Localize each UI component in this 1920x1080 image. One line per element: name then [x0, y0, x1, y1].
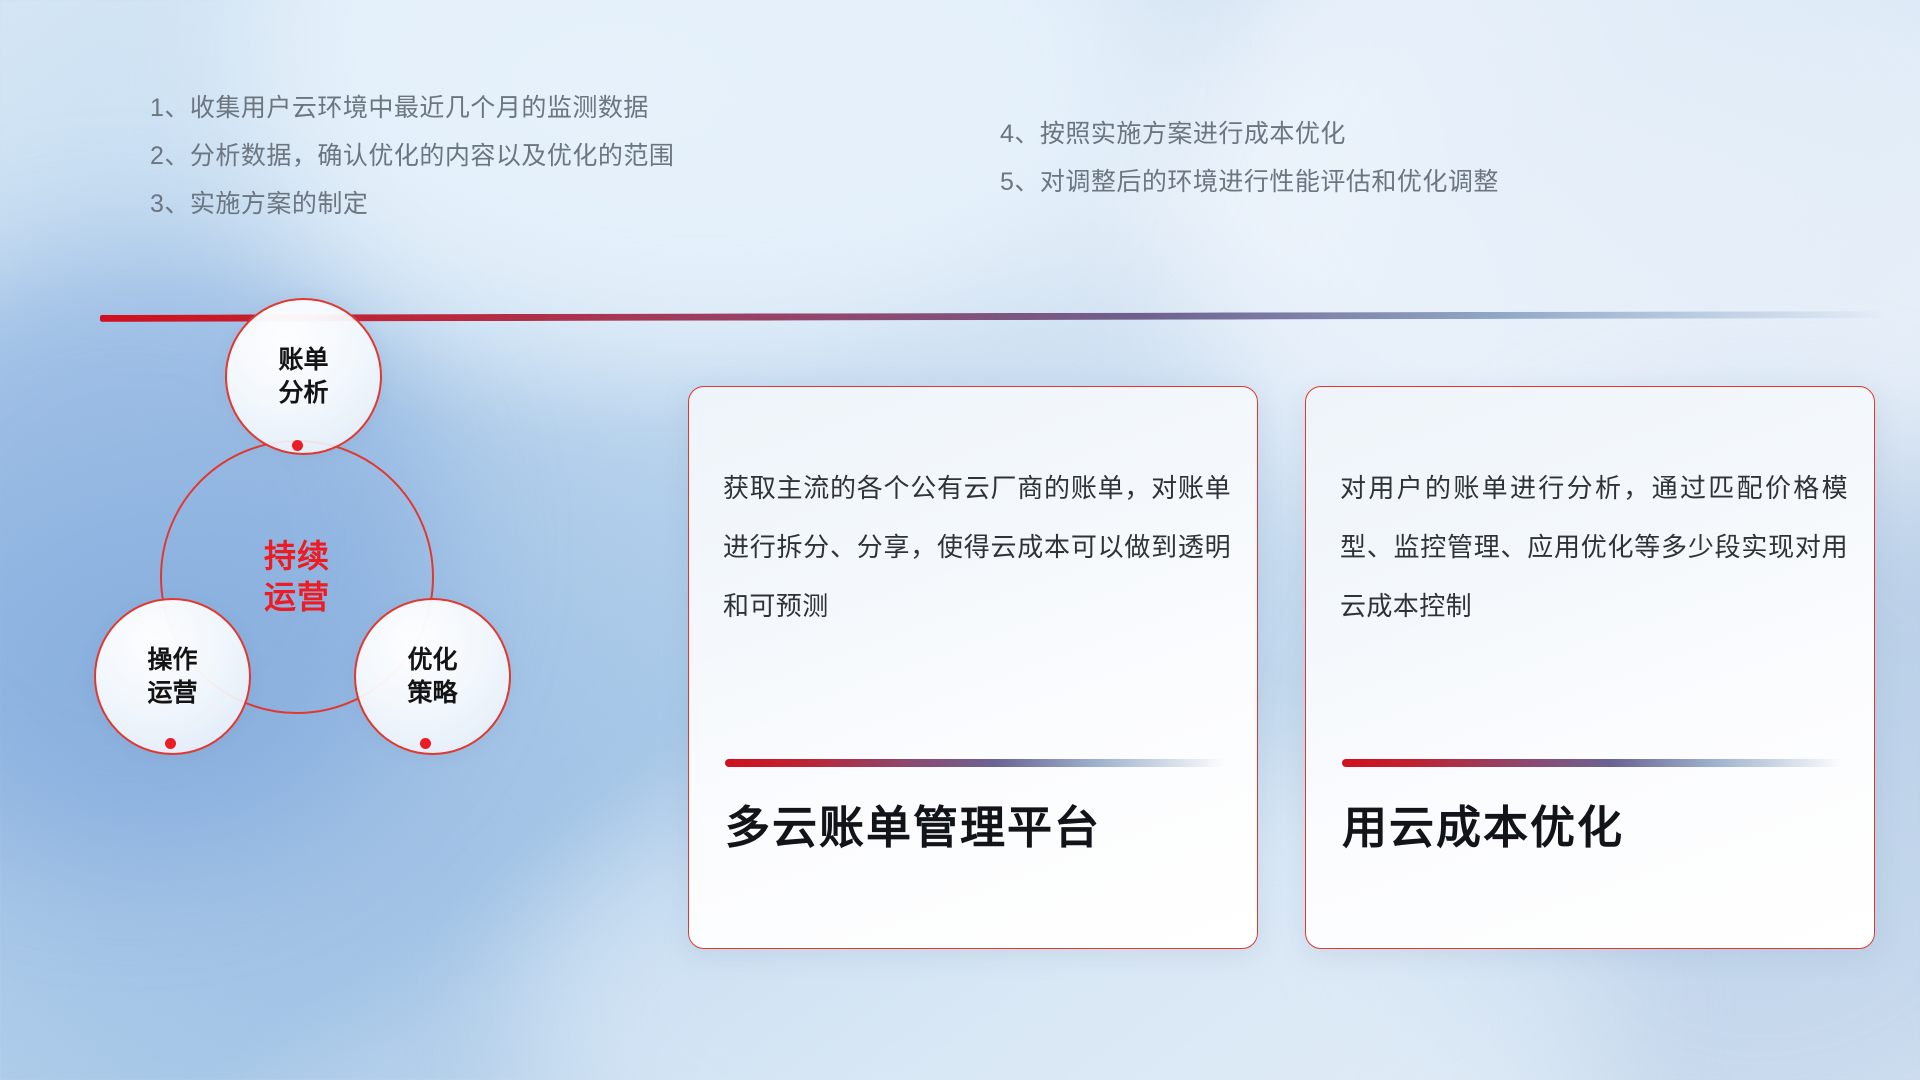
step-item-5: 5、对调整后的环境进行性能评估和优化调整 [1000, 170, 1499, 195]
venn-connector-dot-top [292, 440, 303, 451]
venn-node-optimization-strategy[interactable]: 优化 策略 [354, 598, 511, 755]
venn-node-bill-analysis-line-1: 账单 [278, 344, 328, 377]
venn-connector-dot-right [420, 738, 431, 749]
card-cloud-cost-optimization-body: 对用户的账单进行分析，通过匹配价格模型、监控管理、应用优化等多少段实现对用云成本… [1340, 459, 1848, 636]
steps-column-left: 1、收集用户云环境中最近几个月的监测数据 2、分析数据，确认优化的内容以及优化的… [150, 96, 674, 240]
venn-node-operations-line-2: 运营 [147, 677, 197, 710]
venn-node-bill-analysis[interactable]: 账单 分析 [225, 298, 382, 455]
venn-connector-dot-left [165, 738, 176, 749]
venn-center-line-1: 持续 [264, 536, 330, 577]
header-divider [100, 311, 1890, 322]
venn-node-operations[interactable]: 操作 运营 [94, 598, 251, 755]
card-multicloud-billing-body: 获取主流的各个公有云厂商的账单，对账单进行拆分、分享，使得云成本可以做到透明和可… [723, 459, 1231, 636]
card-cloud-cost-optimization-title: 用云成本优化 [1342, 801, 1842, 855]
step-item-2: 2、分析数据，确认优化的内容以及优化的范围 [150, 144, 674, 169]
card-multicloud-billing-divider [725, 759, 1225, 767]
step-item-3: 3、实施方案的制定 [150, 192, 674, 217]
card-multicloud-billing-title: 多云账单管理平台 [725, 801, 1225, 855]
venn-node-operations-line-1: 操作 [147, 644, 197, 677]
step-item-4: 4、按照实施方案进行成本优化 [1000, 122, 1499, 147]
steps-column-right: 4、按照实施方案进行成本优化 5、对调整后的环境进行性能评估和优化调整 [1000, 122, 1499, 218]
card-cloud-cost-optimization-divider [1342, 759, 1842, 767]
step-item-1: 1、收集用户云环境中最近几个月的监测数据 [150, 96, 674, 121]
card-multicloud-billing[interactable]: 获取主流的各个公有云厂商的账单，对账单进行拆分、分享，使得云成本可以做到透明和可… [688, 386, 1258, 949]
card-cloud-cost-optimization[interactable]: 对用户的账单进行分析，通过匹配价格模型、监控管理、应用优化等多少段实现对用云成本… [1305, 386, 1875, 949]
venn-node-bill-analysis-line-2: 分析 [278, 377, 328, 410]
venn-node-optimization-strategy-line-2: 策略 [407, 677, 457, 710]
venn-center-line-2: 运营 [264, 577, 330, 618]
venn-diagram: 持续 运营 账单 分析 操作 运营 优化 策略 [100, 350, 560, 830]
venn-node-optimization-strategy-line-1: 优化 [407, 644, 457, 677]
